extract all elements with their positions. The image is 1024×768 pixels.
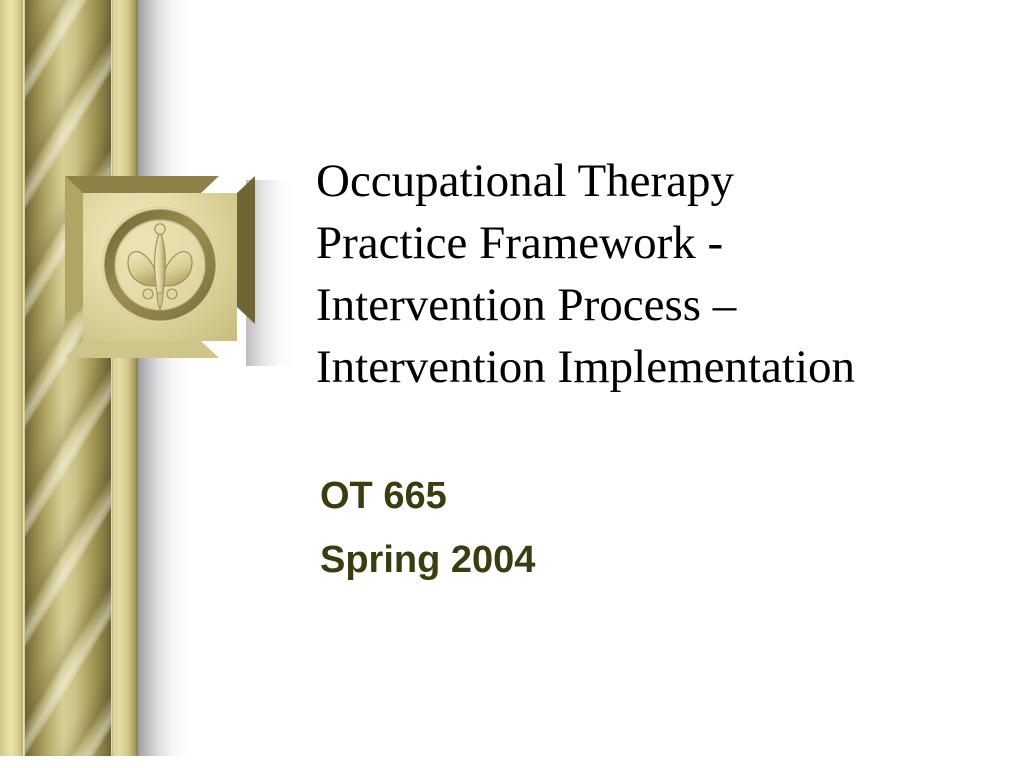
emblem-plaque bbox=[65, 176, 255, 358]
plaque-bevel-top bbox=[65, 176, 219, 193]
plaque-bevel-left bbox=[65, 176, 83, 324]
subtitle-line-course-code: OT 665 bbox=[320, 464, 940, 528]
presentation-slide: Occupational Therapy Practice Framework … bbox=[0, 0, 1024, 768]
slide-subtitle: OT 665 Spring 2004 bbox=[320, 464, 940, 592]
column-diagonal-highlight-stripes bbox=[25, 0, 111, 756]
column-right-band bbox=[113, 0, 138, 756]
column-drop-shadow bbox=[137, 0, 189, 756]
left-decorative-column bbox=[0, 0, 190, 756]
title-line-2: Practice Framework - bbox=[316, 212, 996, 274]
title-line-1: Occupational Therapy bbox=[316, 150, 996, 212]
title-line-4: Intervention Implementation bbox=[316, 336, 996, 398]
slide-title: Occupational Therapy Practice Framework … bbox=[316, 150, 996, 398]
plaque-bevel-right bbox=[237, 176, 255, 324]
title-line-3: Intervention Process – bbox=[316, 274, 996, 336]
column-left-band bbox=[0, 0, 23, 756]
plaque-bevel-bottom bbox=[65, 341, 219, 358]
subtitle-line-term: Spring 2004 bbox=[320, 528, 940, 592]
tulip-medallion-icon bbox=[83, 193, 237, 341]
